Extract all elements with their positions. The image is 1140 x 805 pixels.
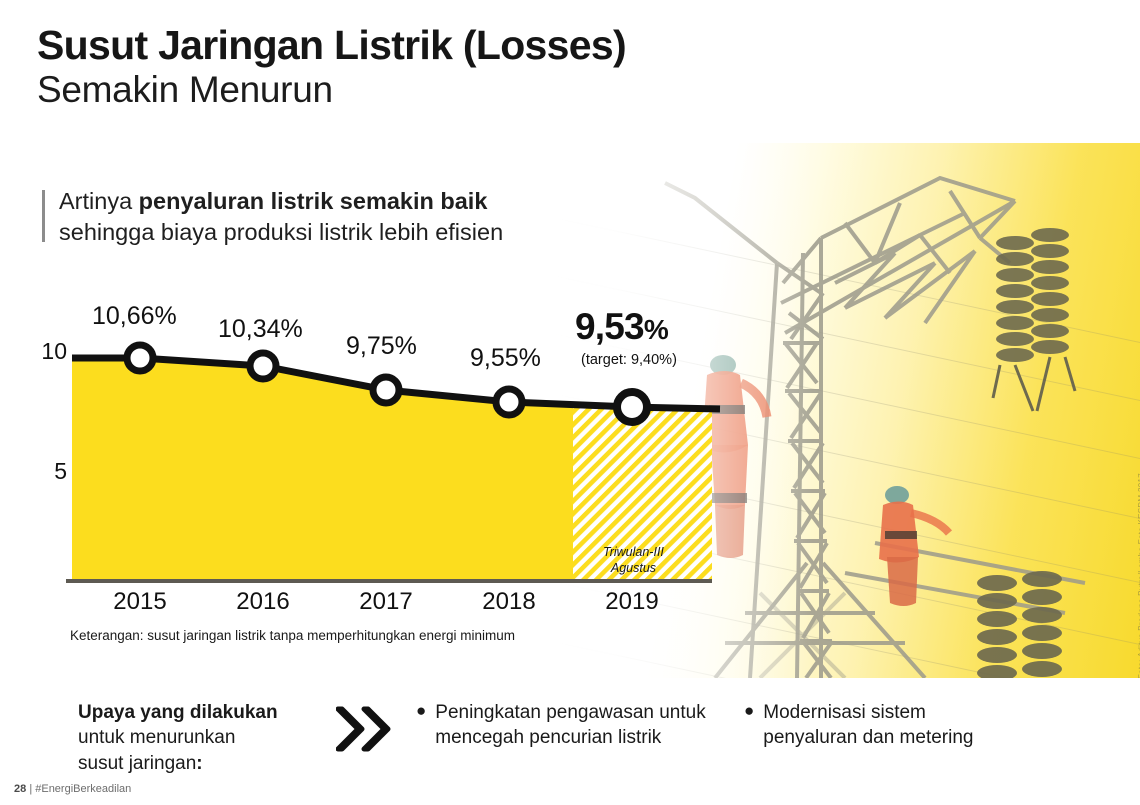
data-point-2017 [373,377,399,403]
actions-heading-line-1: Upaya yang dilakukan [78,702,278,723]
quarter-note: Triwulan-III Agustus [603,545,664,576]
actions-heading-line-2: untuk menurunkan [78,725,328,750]
target-label: (target: 9,40%) [581,352,677,368]
page-number: 28 [14,783,26,795]
data-label-2019: 9,53% [575,306,668,348]
data-label-2018: 9,55% [470,344,541,373]
double-chevron-right-icon [336,706,392,757]
lead-prefix: Artinya [59,188,139,214]
x-tick-2017: 2017 [326,588,446,616]
data-label-2016: 10,34% [218,315,303,344]
actions-section: Upaya yang dilakukan untuk menurunkan su… [78,700,994,776]
title-line-1: Susut Jaringan Listrik (Losses) [37,24,626,67]
list-item: ● Peningkatan pengawasan untuk mencegah … [416,700,716,751]
y-tick-10: 10 [33,338,67,365]
lead-bold: penyaluran listrik semakin baik [139,188,488,214]
bullet-dot-icon: ● [416,700,426,751]
data-label-2017: 9,75% [346,332,417,361]
bullet-text-2: Modernisasi sistem penyaluran dan meteri… [763,700,994,751]
quarter-note-line-1: Triwulan-III [603,545,664,561]
footer: 28 | #EnergiBerkeadilan [14,783,131,795]
bullet-text-1: Peningkatan pengawasan untuk mencegah pe… [435,700,716,751]
data-point-2019 [617,392,647,422]
infographic-slide: Foto: Aditya Pradana Putra/Lomba Foto KE… [0,0,1140,805]
actions-heading-line-3: susut jaringan: [78,751,328,776]
bullet-dot-icon: ● [744,700,754,751]
losses-area-chart: 10 5 10,66% 10,34% 9,75% 9,55% 9,53% (ta… [30,290,730,590]
footer-hashtag: #EnergiBerkeadilan [35,783,131,795]
chart-note: Keterangan: susut jaringan listrik tanpa… [70,628,515,643]
x-tick-2018: 2018 [449,588,569,616]
actions-heading-colon: : [196,753,202,774]
lead-line-2: sehingga biaya produksi listrik lebih ef… [59,217,503,248]
actions-heading-line-3-text: susut jaringan [78,753,196,774]
data-point-2018 [496,389,522,415]
quarter-note-line-2: Agustus [603,561,664,577]
insulator-string-lower [977,571,1062,678]
footer-separator: | [29,783,32,795]
data-label-2019-percent: % [644,314,668,345]
insulator-string-upper [993,228,1075,411]
data-label-2015: 10,66% [92,302,177,331]
data-point-2016 [250,353,276,379]
page-title: Susut Jaringan Listrik (Losses) Semakin … [37,24,626,110]
title-line-2: Semakin Menurun [37,69,626,110]
x-tick-2016: 2016 [203,588,323,616]
y-tick-5: 5 [33,458,67,485]
lead-accent-bar [42,190,45,242]
list-item: ● Modernisasi sistem penyaluran dan mete… [744,700,994,751]
lead-statement: Artinya penyaluran listrik semakin baik … [42,186,503,248]
x-tick-2019: 2019 [572,588,692,616]
actions-bullet-list: ● Peningkatan pengawasan untuk mencegah … [416,700,994,751]
lead-text: Artinya penyaluran listrik semakin baik … [59,186,503,248]
data-label-2019-value: 9,53 [575,306,644,347]
x-tick-2015: 2015 [80,588,200,616]
actions-heading: Upaya yang dilakukan untuk menurunkan su… [78,700,328,776]
data-point-2015 [127,345,153,371]
